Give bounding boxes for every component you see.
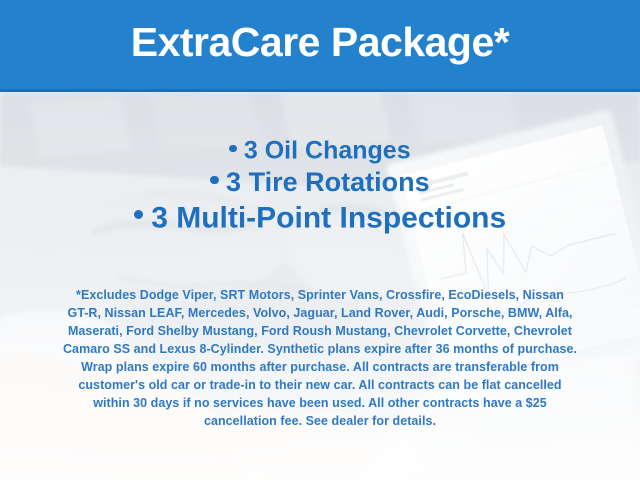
header-band: ExtraCare Package*	[0, 0, 640, 92]
disclaimer-line: customer's old car or trade-in to their …	[26, 376, 614, 394]
disclaimer-line: Maserati, Ford Shelby Mustang, Ford Rous…	[26, 322, 614, 340]
disclaimer-line: GT-R, Nissan LEAF, Mercedes, Volvo, Jagu…	[26, 304, 614, 322]
list-item: 3 Multi-Point Inspections	[0, 199, 640, 236]
disclaimer-line: Wrap plans expire 60 months after purcha…	[26, 358, 614, 376]
benefit-label: 3 Multi-Point Inspections	[151, 201, 506, 234]
disclaimer-line: *Excludes Dodge Viper, SRT Motors, Sprin…	[26, 286, 614, 304]
extracare-package-graphic: ExtraCare Package* 3 Oil Changes 3 Tire …	[0, 0, 640, 480]
disclaimer-line: Camaro SS and Lexus 8-Cylinder. Syntheti…	[26, 340, 614, 358]
page-title: ExtraCare Package*	[131, 22, 509, 67]
benefit-label: 3 Oil Changes	[244, 137, 411, 165]
benefit-label: 3 Tire Rotations	[226, 167, 430, 197]
disclaimer-line: within 30 days if no services have been …	[26, 394, 614, 412]
list-item: 3 Oil Changes	[0, 136, 640, 166]
bullet-dot-icon	[134, 210, 143, 219]
benefits-list: 3 Oil Changes 3 Tire Rotations 3 Multi-P…	[0, 136, 640, 236]
list-item: 3 Tire Rotations	[0, 166, 640, 199]
bullet-dot-icon	[229, 145, 237, 153]
disclaimer-text: *Excludes Dodge Viper, SRT Motors, Sprin…	[26, 286, 614, 430]
disclaimer-line: cancellation fee. See dealer for details…	[26, 412, 614, 430]
bullet-dot-icon	[210, 176, 218, 184]
